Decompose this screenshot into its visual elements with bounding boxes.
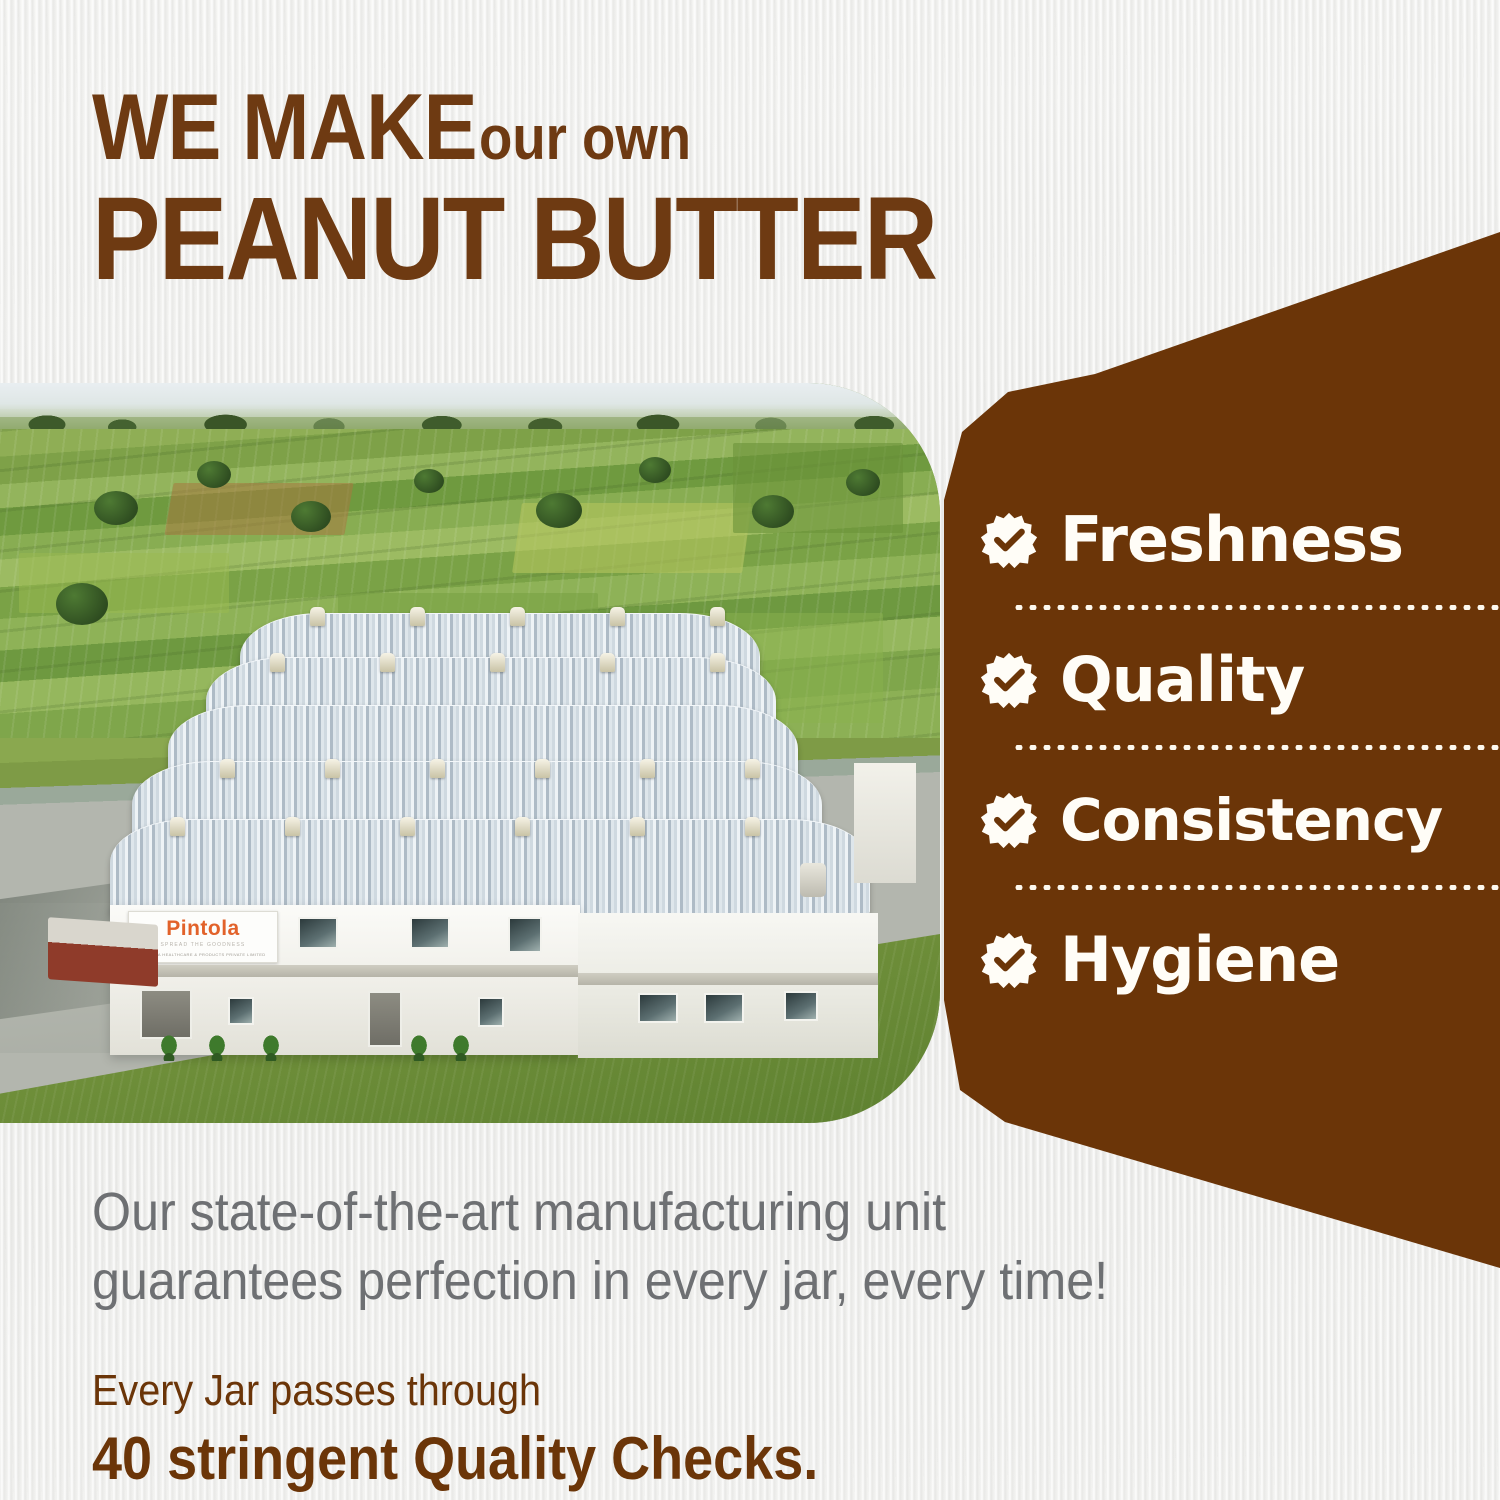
feature-item-freshness[interactable]: Freshness xyxy=(980,470,1500,610)
photo-tree xyxy=(752,495,794,528)
photo-roof-vent xyxy=(535,759,550,778)
headline-block: WE MAKE our own PEANUT BUTTER xyxy=(92,80,1192,298)
photo-tree xyxy=(536,493,582,528)
headline-row-1: WE MAKE our own xyxy=(92,80,1192,174)
photo-roof-vent xyxy=(640,759,655,778)
quality-checks-headline: 40 stringent Quality Checks. xyxy=(92,1424,1100,1493)
feature-label: Consistency xyxy=(1060,791,1442,849)
photo-window xyxy=(508,917,542,953)
photo-factory-building: Pintola SPREAD THE GOODNESS KRISHNA HEAL… xyxy=(110,613,940,973)
photo-field-patch xyxy=(19,553,229,613)
photo-roof-vent xyxy=(510,607,525,626)
photo-stair-tower xyxy=(854,763,916,883)
lead-paragraph-line-2: guarantees perfection in every jar, ever… xyxy=(92,1247,1134,1316)
pintola-corporate-name: KRISHNA HEALTHCARE & PRODUCTS PRIVATE LI… xyxy=(140,952,265,957)
photo-potted-plant xyxy=(260,1035,282,1061)
photo-balcony-band xyxy=(578,973,878,985)
photo-balcony-band xyxy=(110,965,580,977)
facility-photo: Pintola SPREAD THE GOODNESS KRISHNA HEAL… xyxy=(0,383,940,1123)
photo-roof-vent xyxy=(630,817,645,836)
lead-paragraph-line-1: Our state-of-the-art manufacturing unit xyxy=(92,1178,1134,1247)
photo-roof-vent xyxy=(490,653,505,672)
photo-roof-vent xyxy=(745,817,760,836)
quality-checks-block: Every Jar passes through 40 stringent Qu… xyxy=(92,1367,1212,1492)
pintola-tagline: SPREAD THE GOODNESS xyxy=(161,942,246,948)
headline-we-make: WE MAKE xyxy=(92,80,477,174)
bottom-copy-block: Our state-of-the-art manufacturing unit … xyxy=(92,1178,1212,1493)
photo-window xyxy=(228,997,254,1025)
feature-label: Quality xyxy=(1060,649,1304,711)
photo-window xyxy=(478,997,504,1027)
photo-roof-vent xyxy=(745,759,760,778)
photo-roof-vent xyxy=(710,653,725,672)
photo-building-facade: Pintola SPREAD THE GOODNESS KRISHNA HEAL… xyxy=(110,905,580,1055)
photo-roof-vent xyxy=(430,759,445,778)
photo-potted-plant xyxy=(408,1035,430,1061)
photo-roof-vent xyxy=(400,817,415,836)
photo-potted-plant xyxy=(450,1035,472,1061)
check-badge-icon xyxy=(980,791,1038,849)
photo-roof-vent xyxy=(220,759,235,778)
poster-canvas: WE MAKE our own PEANUT BUTTER xyxy=(0,0,1500,1500)
photo-tree xyxy=(56,583,108,625)
pintola-logo-text: Pintola xyxy=(166,918,240,939)
quality-checks-intro: Every Jar passes through xyxy=(92,1367,1100,1415)
photo-roof-vent xyxy=(515,817,530,836)
photo-tree xyxy=(94,491,138,525)
check-badge-icon xyxy=(980,931,1038,989)
feature-item-quality[interactable]: Quality xyxy=(980,610,1500,750)
photo-roof-vent xyxy=(310,607,325,626)
photo-window xyxy=(298,917,338,949)
photo-roof-vent xyxy=(285,817,300,836)
photo-window xyxy=(638,993,678,1023)
photo-shutter-door xyxy=(140,989,192,1039)
feature-label: Hygiene xyxy=(1060,929,1339,991)
photo-water-tank xyxy=(800,863,826,897)
photo-roof-vent xyxy=(325,759,340,778)
features-list: Freshness Quality Consistency Hy xyxy=(980,470,1500,1030)
photo-roof-vent xyxy=(710,607,725,626)
feature-item-hygiene[interactable]: Hygiene xyxy=(980,890,1500,1030)
photo-roof-vent xyxy=(270,653,285,672)
photo-entrance-door xyxy=(368,991,402,1047)
photo-roof-vent xyxy=(170,817,185,836)
photo-tree xyxy=(639,457,671,483)
photo-potted-plant xyxy=(158,1035,180,1061)
photo-roof-vent xyxy=(380,653,395,672)
photo-window xyxy=(704,993,744,1023)
photo-roof-vent xyxy=(610,607,625,626)
photo-window xyxy=(410,917,450,949)
photo-delivery-truck xyxy=(48,917,158,987)
check-badge-icon xyxy=(980,511,1038,569)
headline-peanut-butter: PEANUT BUTTER xyxy=(92,180,1049,298)
photo-window xyxy=(784,991,818,1021)
photo-tree xyxy=(414,469,444,493)
check-badge-icon xyxy=(980,651,1038,709)
feature-item-consistency[interactable]: Consistency xyxy=(980,750,1500,890)
photo-tree xyxy=(846,469,880,496)
photo-roof-vent xyxy=(600,653,615,672)
photo-roof-vent xyxy=(410,607,425,626)
facility-photo-image: Pintola SPREAD THE GOODNESS KRISHNA HEAL… xyxy=(0,383,940,1123)
photo-potted-plant xyxy=(206,1035,228,1061)
feature-label: Freshness xyxy=(1060,509,1403,571)
headline-our-own: our own xyxy=(479,108,691,170)
photo-building-facade-right xyxy=(578,913,878,1058)
